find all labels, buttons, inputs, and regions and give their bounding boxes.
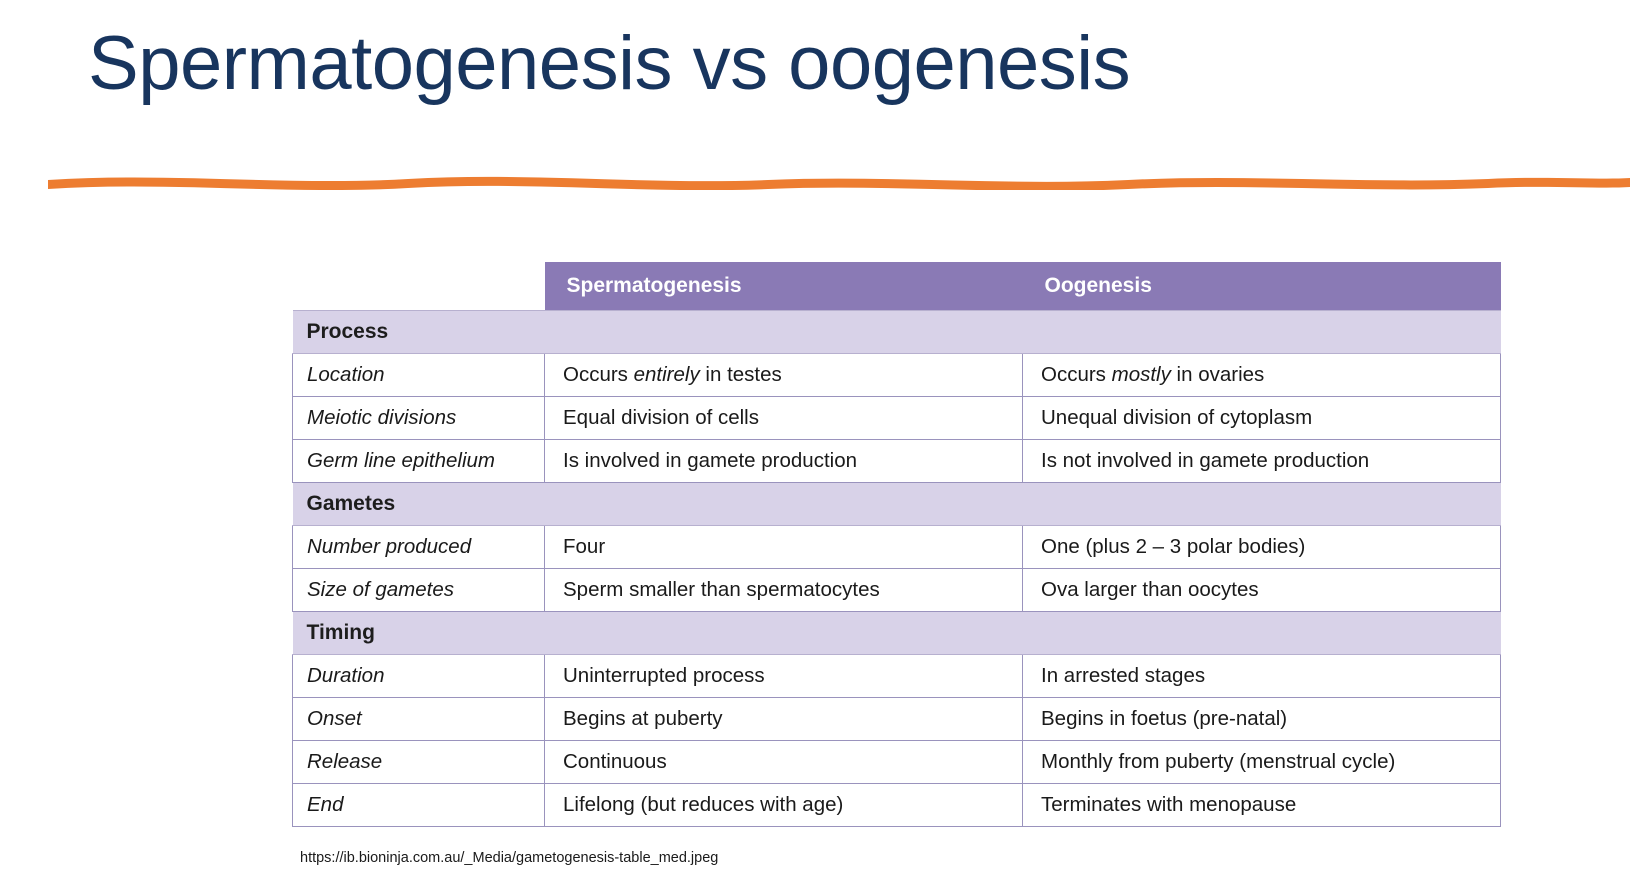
cell-size-of-gametes-spermatogenesis: Sperm smaller than spermatocytes xyxy=(545,569,1023,612)
cell-end-spermatogenesis: Lifelong (but reduces with age) xyxy=(545,784,1023,827)
cell-number-produced-spermatogenesis: Four xyxy=(545,526,1023,569)
cell-text-emphasis: entirely xyxy=(634,363,700,386)
cell-location-spermatogenesis: Occurs entirely in testes xyxy=(545,354,1023,397)
table-section-row-gametes: Gametes xyxy=(293,483,1501,526)
row-label-onset: Onset xyxy=(293,698,545,741)
row-label-meiotic-divisions: Meiotic divisions xyxy=(293,397,545,440)
table-section-row-timing: Timing xyxy=(293,612,1501,655)
table-row: Germ line epithelium Is involved in game… xyxy=(293,440,1501,483)
cell-onset-spermatogenesis: Begins at puberty xyxy=(545,698,1023,741)
row-label-germ-line-epithelium: Germ line epithelium xyxy=(293,440,545,483)
section-label-process: Process xyxy=(293,311,1501,354)
cell-location-oogenesis: Occurs mostly in ovaries xyxy=(1023,354,1501,397)
table-header-blank xyxy=(293,262,545,311)
cell-duration-spermatogenesis: Uninterrupted process xyxy=(545,655,1023,698)
section-label-timing: Timing xyxy=(293,612,1501,655)
row-label-duration: Duration xyxy=(293,655,545,698)
comparison-table: Spermatogenesis Oogenesis Process Locati… xyxy=(292,262,1501,827)
row-label-release: Release xyxy=(293,741,545,784)
cell-text-emphasis: mostly xyxy=(1112,363,1171,386)
table-row: Number produced Four One (plus 2 – 3 pol… xyxy=(293,526,1501,569)
cell-text-post: in testes xyxy=(700,363,782,386)
table-section-row-process: Process xyxy=(293,311,1501,354)
cell-number-produced-oogenesis: One (plus 2 – 3 polar bodies) xyxy=(1023,526,1501,569)
table-row: Location Occurs entirely in testes Occur… xyxy=(293,354,1501,397)
cell-germ-line-epithelium-oogenesis: Is not involved in gamete production xyxy=(1023,440,1501,483)
table-row: Meiotic divisions Equal division of cell… xyxy=(293,397,1501,440)
cell-text-post: in ovaries xyxy=(1171,363,1264,386)
cell-size-of-gametes-oogenesis: Ova larger than oocytes xyxy=(1023,569,1501,612)
cell-meiotic-divisions-oogenesis: Unequal division of cytoplasm xyxy=(1023,397,1501,440)
row-label-location: Location xyxy=(293,354,545,397)
cell-onset-oogenesis: Begins in foetus (pre-natal) xyxy=(1023,698,1501,741)
comparison-table-container: Spermatogenesis Oogenesis Process Locati… xyxy=(292,262,1500,827)
cell-text-pre: Occurs xyxy=(563,363,634,386)
table-row: Onset Begins at puberty Begins in foetus… xyxy=(293,698,1501,741)
table-row: Size of gametes Sperm smaller than sperm… xyxy=(293,569,1501,612)
table-row: Release Continuous Monthly from puberty … xyxy=(293,741,1501,784)
row-label-number-produced: Number produced xyxy=(293,526,545,569)
table-header-spermatogenesis: Spermatogenesis xyxy=(545,262,1023,311)
cell-release-oogenesis: Monthly from puberty (menstrual cycle) xyxy=(1023,741,1501,784)
cell-release-spermatogenesis: Continuous xyxy=(545,741,1023,784)
table-row: Duration Uninterrupted process In arrest… xyxy=(293,655,1501,698)
cell-end-oogenesis: Terminates with menopause xyxy=(1023,784,1501,827)
cell-text-pre: Occurs xyxy=(1041,363,1112,386)
table-row: End Lifelong (but reduces with age) Term… xyxy=(293,784,1501,827)
cell-meiotic-divisions-spermatogenesis: Equal division of cells xyxy=(545,397,1023,440)
section-label-gametes: Gametes xyxy=(293,483,1501,526)
cell-duration-oogenesis: In arrested stages xyxy=(1023,655,1501,698)
title-underline-decoration xyxy=(48,168,1630,190)
table-header-row: Spermatogenesis Oogenesis xyxy=(293,262,1501,311)
source-caption: https://ib.bioninja.com.au/_Media/gameto… xyxy=(300,850,718,866)
table-header-oogenesis: Oogenesis xyxy=(1023,262,1501,311)
cell-germ-line-epithelium-spermatogenesis: Is involved in gamete production xyxy=(545,440,1023,483)
page-title: Spermatogenesis vs oogenesis xyxy=(88,22,1130,106)
row-label-end: End xyxy=(293,784,545,827)
slide: Spermatogenesis vs oogenesis Spermatogen… xyxy=(0,0,1630,896)
row-label-size-of-gametes: Size of gametes xyxy=(293,569,545,612)
